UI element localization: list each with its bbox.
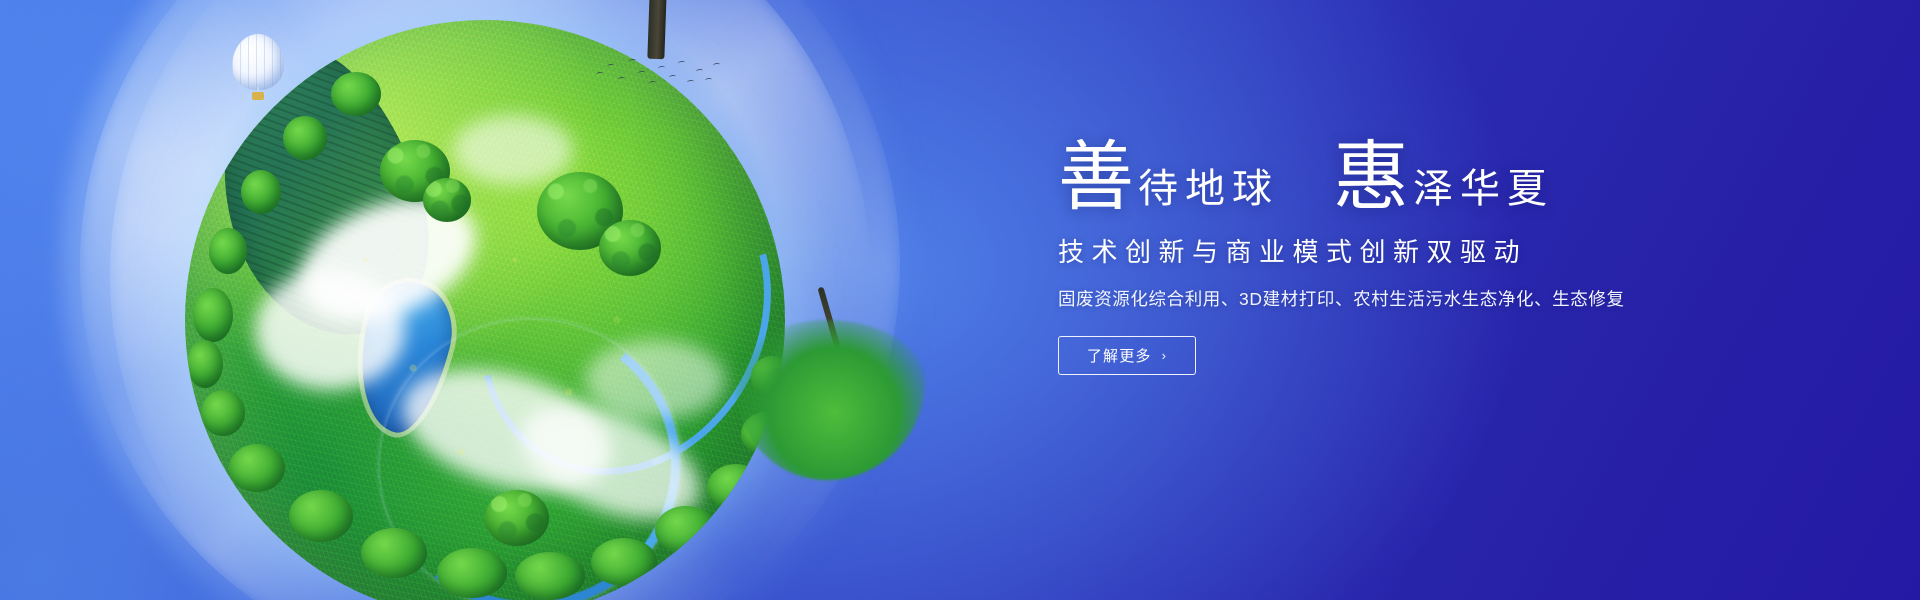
hot-air-balloon-icon [232,34,284,100]
rim-foliage-icon [515,552,585,600]
tree-canopy-icon [599,220,661,276]
banner-content: 善 待地球 惠 泽华夏 技术创新与商业模式创新双驱动 固废资源化综合利用、3D建… [1058,136,1818,375]
rim-tree-icon [735,320,925,480]
tree-canopy-icon [380,140,450,202]
rim-foliage-icon [361,528,427,578]
rim-foliage-icon [437,548,507,598]
bird-icon [713,63,720,68]
headline-part1-small: 待地球 [1138,169,1279,214]
bird-flock-icon [592,50,722,94]
bird-icon [658,66,665,71]
rim-foliage-icon [187,340,223,388]
rim-foliage-icon [289,490,353,542]
surface-cloud-icon [585,340,725,420]
rim-foliage-icon [229,444,285,492]
bird-icon [638,71,645,76]
rim-foliage-icon [331,72,381,116]
bird-icon [649,81,656,86]
rim-foliage-icon [241,170,281,214]
bird-icon [596,72,603,77]
learn-more-label: 了解更多 [1087,345,1152,366]
surface-cloud-icon [281,174,494,345]
balloon-envelope-icon [232,34,284,90]
headline-part1-big: 善 [1058,144,1134,214]
learn-more-button[interactable]: 了解更多 › [1058,336,1196,375]
surface-cloud-icon [255,270,405,390]
bird-icon [629,59,636,64]
banner-subtitle: 技术创新与商业模式创新双驱动 [1058,232,1818,269]
chevron-right-icon: › [1162,348,1168,363]
river-secondary-icon [424,104,785,527]
rim-foliage-icon [201,390,245,436]
surface-cloud-icon [453,115,573,185]
rim-foliage-icon [591,538,657,586]
mountain-ridge-icon [187,28,457,363]
surface-cloud-icon [504,383,716,542]
bird-icon [705,78,712,83]
rim-foliage-icon [655,506,717,554]
rim-foliage-icon [193,288,233,342]
globe-surface-layer [185,20,785,600]
green-planet-icon [185,20,785,600]
bird-icon [607,64,614,69]
headline: 善 待地球 惠 泽华夏 [1058,136,1818,214]
bird-icon [696,69,703,74]
lake-icon [343,274,463,440]
bird-icon [687,80,694,85]
tree-canopy-icon [423,178,471,222]
river-icon [366,305,695,600]
bird-icon [678,61,685,66]
rim-foliage-icon [209,228,247,274]
rim-foliage-icon [283,116,327,160]
tree-canopy-icon [537,172,623,250]
bird-icon [669,75,676,80]
surface-cloud-icon [389,347,626,512]
headline-part2-small: 泽华夏 [1413,169,1554,214]
tree-crown-icon [735,320,925,480]
hero-banner: 善 待地球 惠 泽华夏 技术创新与商业模式创新双驱动 固废资源化综合利用、3D建… [0,0,1920,600]
balloon-basket-icon [252,92,264,100]
hero-tree-icon [545,0,785,45]
tree-canopy-icon [485,490,549,546]
bird-icon [618,77,625,82]
headline-part2-big: 惠 [1333,144,1409,214]
banner-description: 固废资源化综合利用、3D建材打印、农村生活污水生态净化、生态修复 [1058,286,1818,311]
